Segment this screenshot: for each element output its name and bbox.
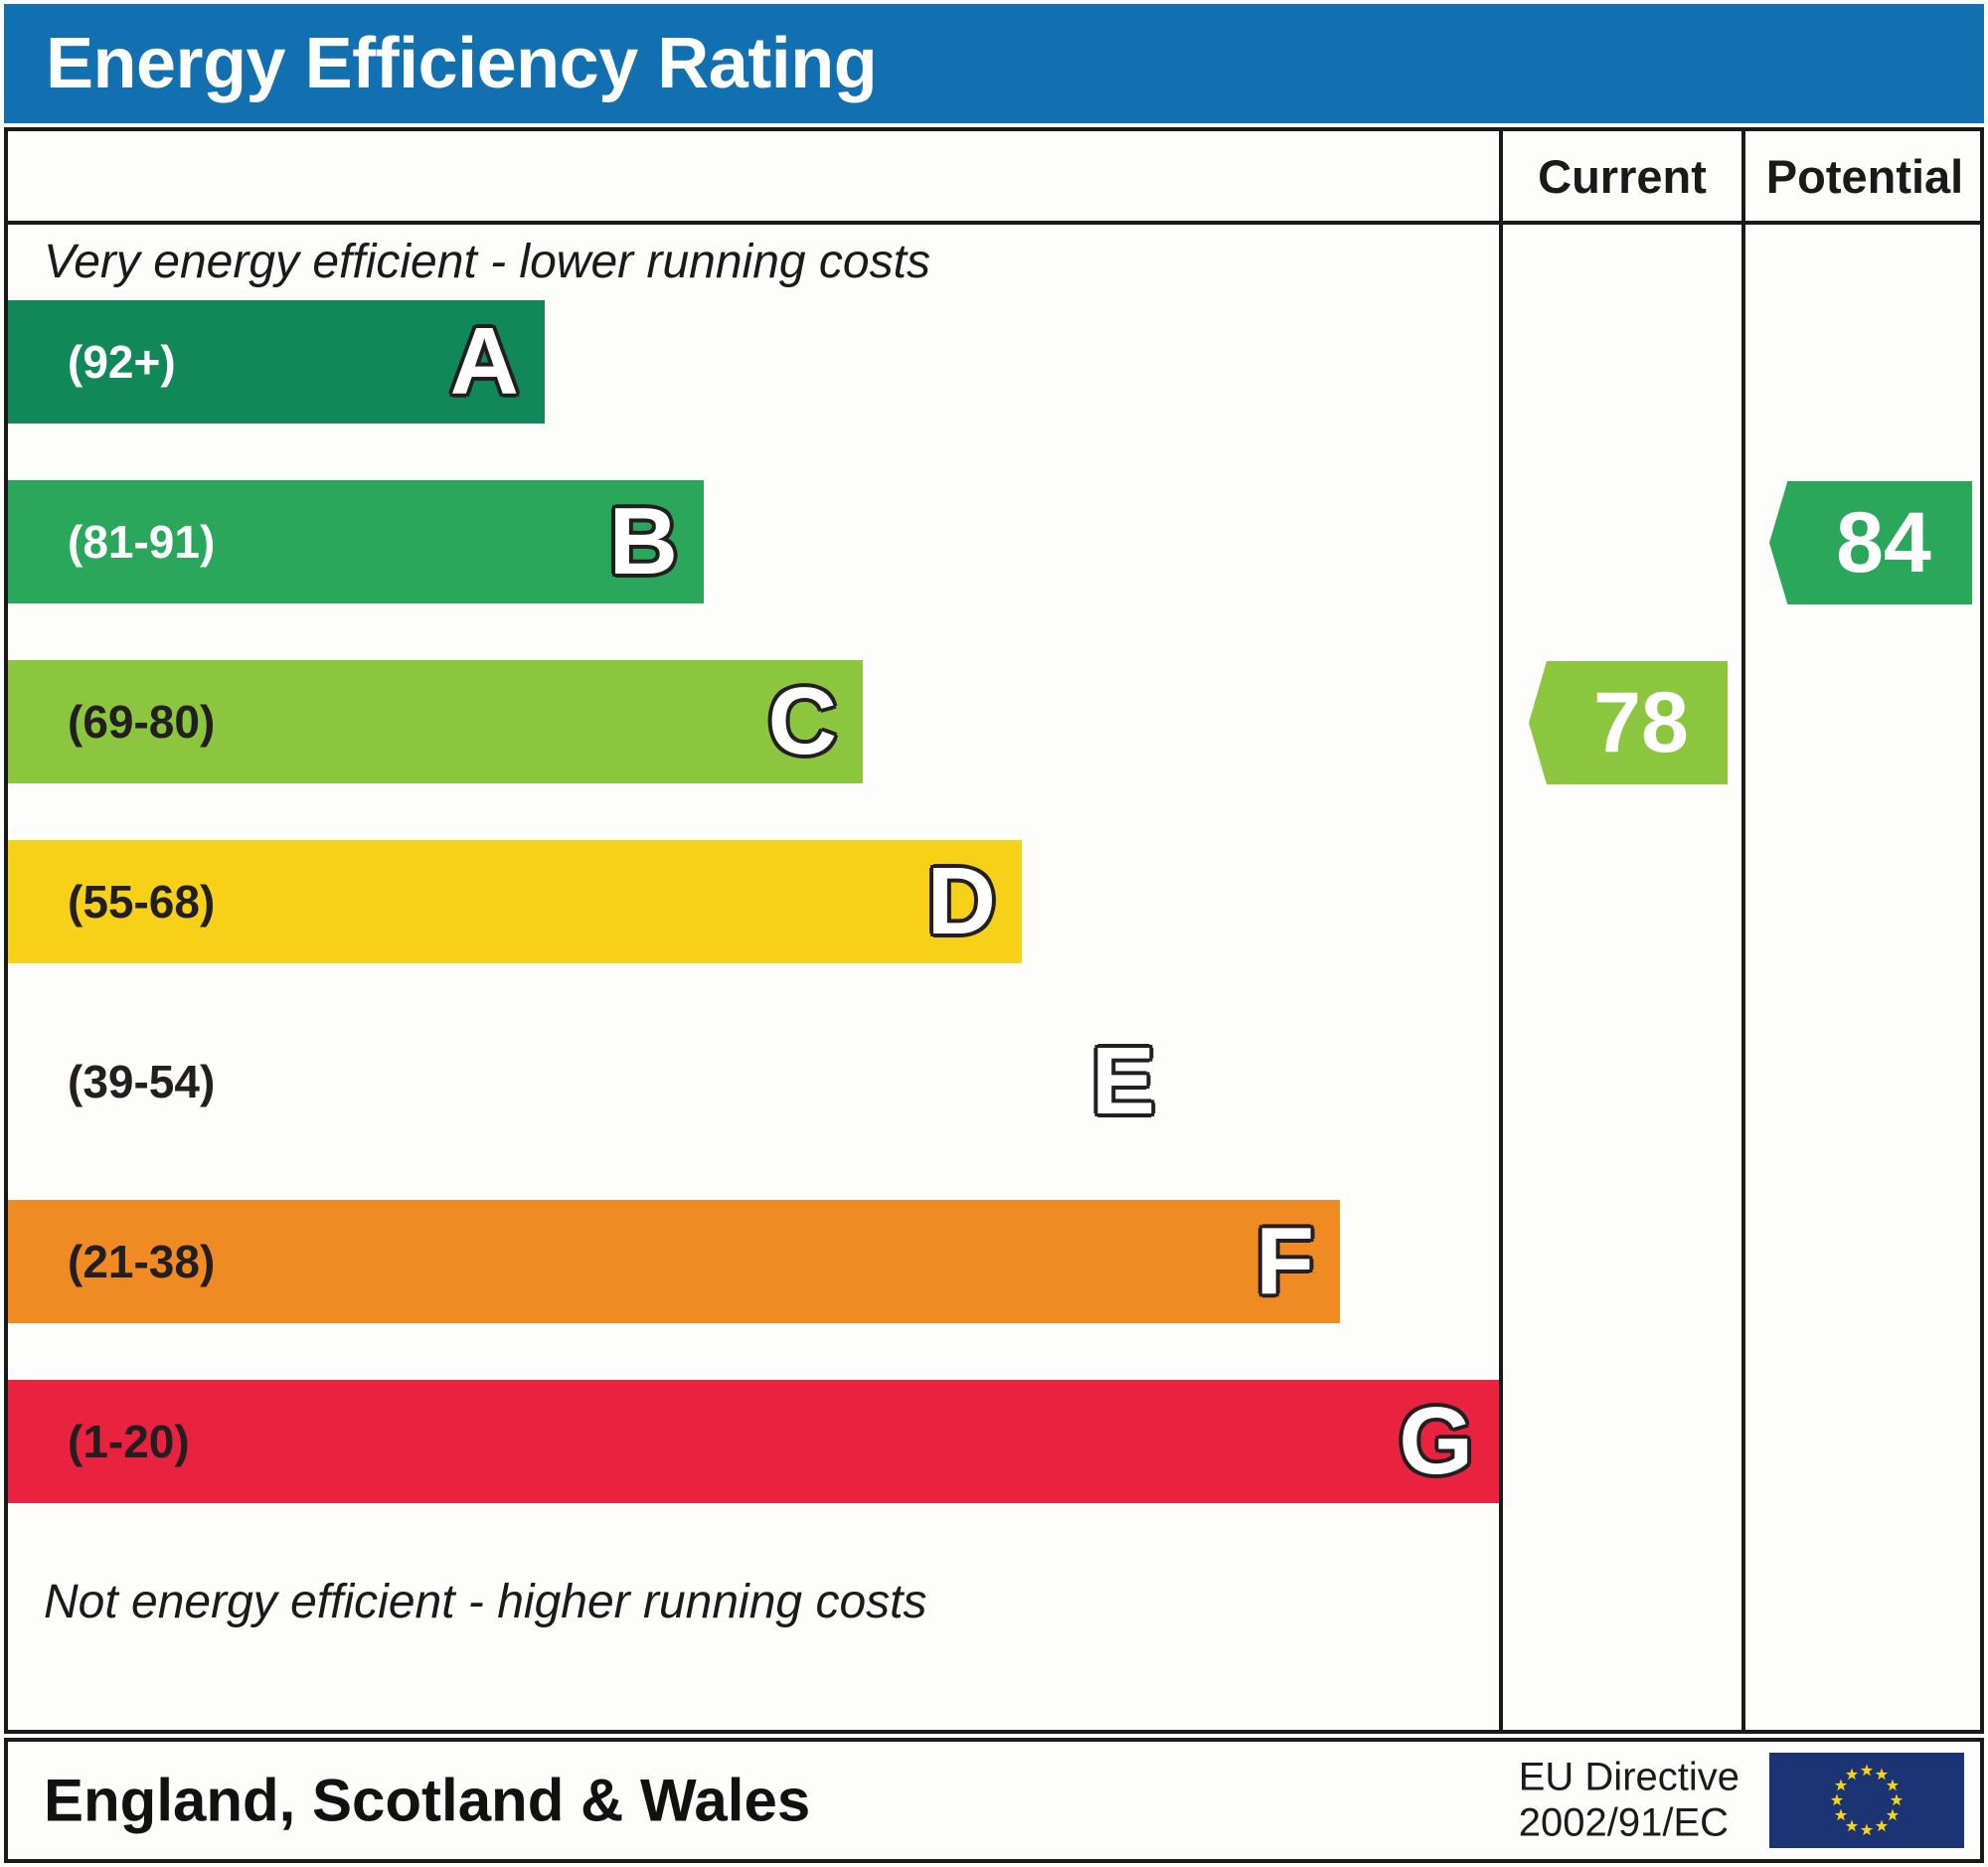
caption-not-efficient: Not energy efficient - higher running co… [44,1575,926,1629]
band-letter-f: F [1255,1214,1314,1309]
potential-rating-value: 84 [1810,500,1931,586]
band-row-e: (39-54)E [8,1020,1181,1143]
chart-footer: England, Scotland & Wales EU Directive 2… [4,1738,1984,1863]
band-row-f: (21-38)F [8,1200,1340,1323]
band-range-a: (92+) [68,335,176,389]
energy-efficiency-rating-chart: Energy Efficiency Rating Current Potenti… [0,0,1988,1867]
potential-rating-badge: 84 [1769,481,1972,604]
chart-frame: Current Potential Very energy efficient … [4,127,1984,1734]
current-column-divider [1499,131,1503,1730]
eu-flag-icon [1769,1753,1964,1848]
page-title: Energy Efficiency Rating [46,23,877,104]
band-row-g: (1-20)G [8,1380,1499,1503]
column-header-current: Current [1503,149,1741,204]
directive-line-1: EU Directive [1519,1755,1739,1800]
footer-directive: EU Directive 2002/91/EC [1519,1755,1739,1845]
band-letter-d: D [927,854,996,949]
footer-region-label: England, Scotland & Wales [44,1767,810,1835]
band-range-b: (81-91) [68,515,215,569]
band-row-a: (92+)A [8,300,545,424]
current-rating-value: 78 [1568,680,1689,765]
band-letter-c: C [768,674,837,769]
header-divider-left [8,221,1499,225]
band-letter-e: E [1091,1034,1155,1129]
band-row-b: (81-91)B [8,480,704,603]
band-letter-g: G [1399,1394,1473,1489]
band-range-f: (21-38) [68,1235,215,1288]
band-range-d: (55-68) [68,875,215,929]
column-header-potential: Potential [1745,149,1984,204]
chart-title-bar: Energy Efficiency Rating [4,4,1984,123]
current-rating-badge: 78 [1529,661,1728,784]
band-row-c: (69-80)C [8,660,863,783]
rating-bands: (92+)A(81-91)B(69-80)C(55-68)D(39-54)E(2… [8,300,1499,1563]
directive-line-2: 2002/91/EC [1519,1800,1739,1846]
band-range-c: (69-80) [68,695,215,749]
band-letter-b: B [609,494,678,590]
band-letter-a: A [450,314,519,410]
band-range-e: (39-54) [68,1055,215,1108]
band-range-g: (1-20) [68,1415,190,1468]
potential-column-divider [1741,131,1745,1730]
band-row-d: (55-68)D [8,840,1022,963]
caption-very-efficient: Very energy efficient - lower running co… [44,235,930,289]
